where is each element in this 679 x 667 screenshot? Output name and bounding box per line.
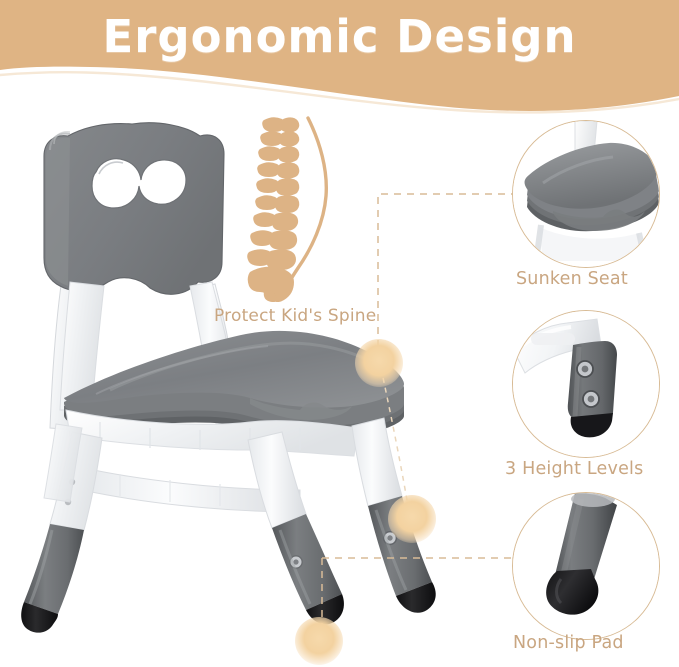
spine-icon [238,112,358,302]
callout-label-non-slip-pad: Non-slip Pad [513,633,624,653]
chair-backrest [44,123,224,295]
infographic-canvas: Ergonomic Design [0,0,679,667]
callout-label-sunken-seat: Sunken Seat [516,269,628,289]
inset-non-slip-pad[interactable] [512,492,660,640]
hotspot-seat-marker[interactable] [355,339,403,387]
chair-leg-front-right [248,432,344,624]
callout-label-protect-spine: Protect Kid's Spine [214,306,376,326]
callout-label-height-levels: 3 Height Levels [505,459,643,479]
product-chair-illustration [0,110,470,667]
leg-adjustment-closeup-icon [513,311,660,458]
seat-closeup-icon [513,121,660,268]
foot-pad-closeup-icon [513,493,660,640]
header-banner: Ergonomic Design [0,0,679,120]
inset-sunken-seat[interactable] [512,120,660,268]
hotspot-leg-marker[interactable] [388,495,436,543]
inset-height-levels[interactable] [512,310,660,458]
page-title: Ergonomic Design [0,6,679,68]
hotspot-foot-marker[interactable] [295,617,343,665]
